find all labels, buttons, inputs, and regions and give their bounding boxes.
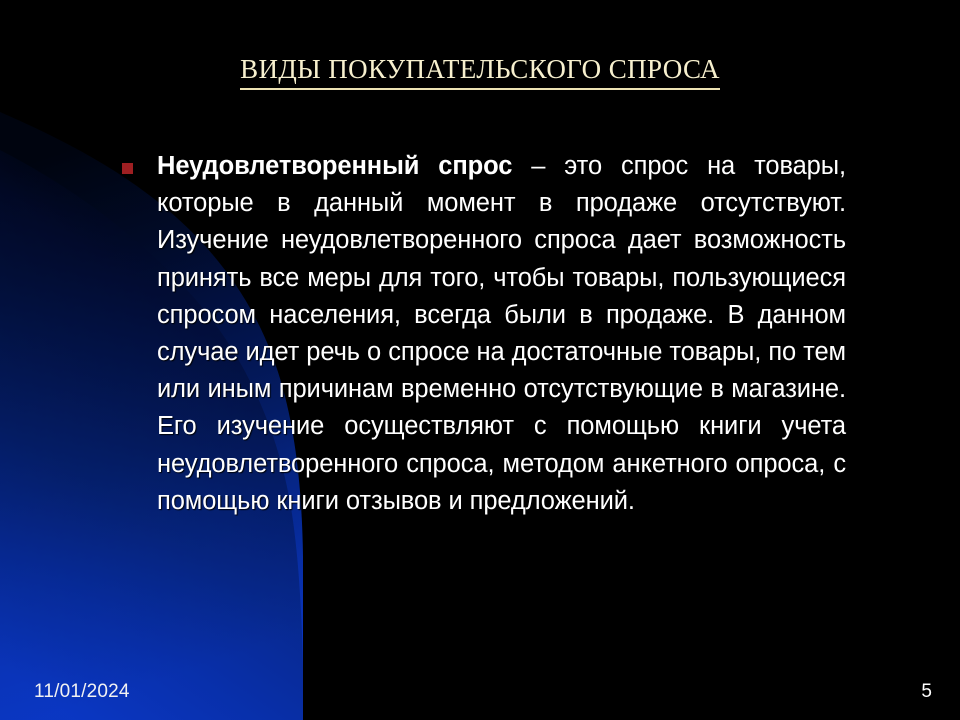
footer-page-number: 5 xyxy=(921,681,932,703)
bullet-list-item: Неудовлетворенный спрос – это спрос на т… xyxy=(120,148,846,520)
bullet-lead-term: Неудовлетворенный спрос xyxy=(157,152,512,180)
bullet-paragraph: Неудовлетворенный спрос – это спрос на т… xyxy=(157,148,846,520)
content-body: Неудовлетворенный спрос – это спрос на т… xyxy=(120,148,846,520)
square-bullet-icon xyxy=(122,163,133,174)
bullet-body-text: – это спрос на товары, которые в данный … xyxy=(157,152,846,515)
footer-date: 11/01/2024 xyxy=(34,681,130,703)
slide-title-text: ВИДЫ ПОКУПАТЕЛЬСКОГО СПРОСА xyxy=(240,54,720,90)
slide-title: ВИДЫ ПОКУПАТЕЛЬСКОГО СПРОСА xyxy=(0,54,960,90)
slide-canvas: ВИДЫ ПОКУПАТЕЛЬСКОГО СПРОСА Неудовлетвор… xyxy=(0,0,960,720)
